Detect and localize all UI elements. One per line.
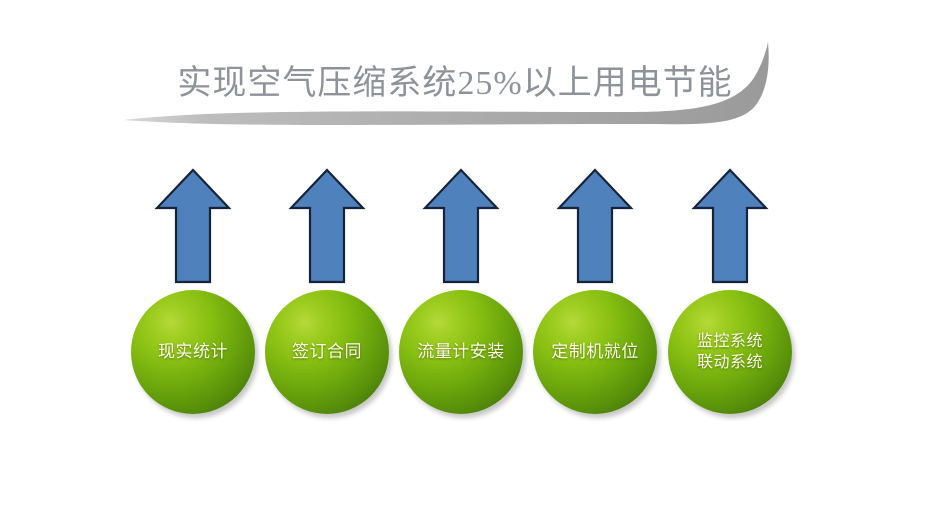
up-arrow-icon [153, 166, 233, 286]
flow-step-5[interactable]: 监控系统 联动系统 [663, 166, 797, 446]
page-title: 实现空气压缩系统25%以上用电节能 [150, 62, 760, 106]
step-label: 流量计安装 [413, 341, 509, 363]
process-flow: 现实统计 签订合同 流量计安装 [126, 166, 826, 446]
flow-step-4[interactable]: 定制机就位 [528, 166, 662, 446]
step-sphere[interactable]: 监控系统 联动系统 [668, 290, 792, 414]
flow-step-2[interactable]: 签订合同 [260, 166, 394, 446]
slide-canvas: 实现空气压缩系统25%以上用电节能 现实统计 签订合同 [0, 0, 945, 529]
up-arrow-icon [555, 166, 635, 286]
step-label: 监控系统 联动系统 [693, 331, 767, 373]
step-sphere[interactable]: 定制机就位 [533, 290, 657, 414]
step-sphere[interactable]: 流量计安装 [399, 290, 523, 414]
step-sphere[interactable]: 签订合同 [265, 290, 389, 414]
step-label: 现实统计 [154, 341, 232, 363]
flow-step-3[interactable]: 流量计安装 [394, 166, 528, 446]
step-label: 定制机就位 [547, 341, 643, 363]
flow-step-1[interactable]: 现实统计 [126, 166, 260, 446]
up-arrow-icon [287, 166, 367, 286]
step-sphere[interactable]: 现实统计 [131, 290, 255, 414]
up-arrow-icon [690, 166, 770, 286]
step-label: 签订合同 [288, 341, 366, 363]
title-banner: 实现空气压缩系统25%以上用电节能 [110, 24, 810, 144]
up-arrow-icon [421, 166, 501, 286]
